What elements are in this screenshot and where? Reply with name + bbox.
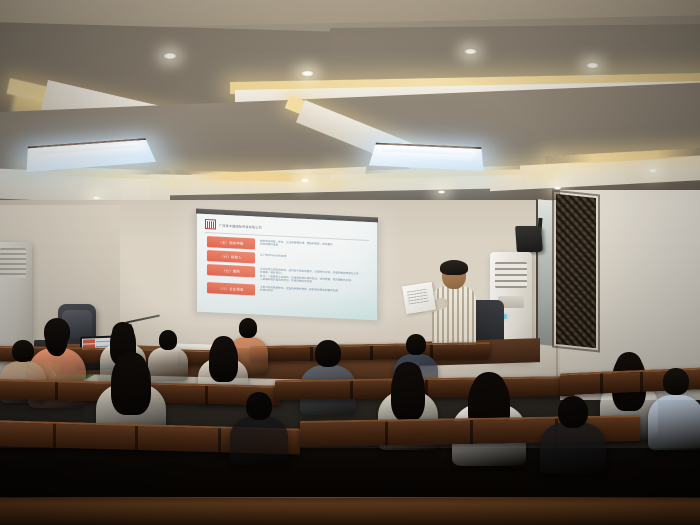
lamp-tube bbox=[382, 147, 473, 155]
attendee bbox=[230, 392, 288, 464]
attendee-head bbox=[246, 392, 273, 420]
slide-row-tag: （五）规定申报 bbox=[207, 236, 255, 249]
ceiling-downlight bbox=[585, 62, 600, 69]
slide-row-list: （五）规定申报按照有关规定，单位、企业等需要办理，需按照规定，提供相关的各项资料… bbox=[203, 236, 371, 301]
bench-divider bbox=[218, 428, 221, 452]
bench-divider bbox=[640, 372, 643, 392]
attendee-head bbox=[12, 340, 33, 362]
attendee-head bbox=[663, 368, 689, 395]
attendee-head bbox=[406, 334, 426, 355]
lamp-tube bbox=[38, 143, 140, 155]
attendee-head bbox=[558, 396, 588, 428]
ceiling-downlight bbox=[162, 52, 178, 60]
slide-row-body: 以下情况均可分别处理： bbox=[260, 253, 369, 263]
bench-divider bbox=[53, 424, 56, 448]
company-logo-icon bbox=[205, 219, 216, 230]
ac-vent bbox=[495, 262, 527, 288]
attendee-head bbox=[239, 318, 257, 338]
document-handout bbox=[402, 282, 436, 314]
attendee-torso bbox=[230, 416, 288, 465]
attendee-head bbox=[315, 340, 341, 367]
foreground-bench-rail bbox=[0, 498, 700, 525]
bench-divider bbox=[135, 426, 138, 450]
attendee-hair bbox=[209, 338, 238, 382]
attendee-hair bbox=[111, 354, 152, 415]
attendee-hair bbox=[391, 364, 426, 421]
bench-divider bbox=[350, 381, 353, 399]
slide-row-tag: （八）企业税收 bbox=[207, 282, 255, 295]
attendee-torso bbox=[540, 422, 606, 474]
bench-divider bbox=[600, 374, 603, 394]
ceiling-downlight bbox=[300, 178, 310, 183]
attendee bbox=[540, 396, 606, 472]
attendee bbox=[300, 340, 356, 414]
slide-row-tag: （七）缴纳 bbox=[207, 264, 255, 277]
presenter-hair bbox=[440, 260, 468, 275]
slide-content: 广西某中国国际贸易有限公司 （五）规定申报按照有关规定，单位、企业等需要办理，需… bbox=[197, 214, 377, 321]
ceiling-downlight bbox=[300, 70, 315, 77]
slide-header: 广西某中国国际贸易有限公司 bbox=[205, 219, 371, 237]
attendee-torso bbox=[648, 395, 700, 449]
wall-speaker bbox=[515, 226, 543, 252]
slide-header-title: 广西某中国国际贸易有限公司 bbox=[219, 222, 262, 229]
bench-divider bbox=[205, 386, 208, 404]
slide-body-line: 以下情况均可分别处理： bbox=[260, 254, 369, 263]
ac-grille bbox=[0, 248, 26, 278]
slide-row-tag: （六）税款入 bbox=[207, 250, 255, 263]
slide-row-body: 上市公司及其他单位，应当按照相关规定，按照有关规定的要求办理并登记手续 bbox=[260, 285, 369, 298]
attendee bbox=[648, 368, 700, 448]
projection-screen: 广西某中国国际贸易有限公司 （五）规定申报按照有关规定，单位、企业等需要办理，需… bbox=[197, 214, 377, 321]
lattice-panel-frame bbox=[552, 189, 600, 352]
bench-divider bbox=[370, 346, 373, 360]
bench-divider bbox=[385, 421, 388, 445]
ceiling-downlight bbox=[463, 48, 478, 55]
slide-row-body: 企业应当在规定的期限，按照有关规定的要求，办理有关手续，并做好相应的登记工作的准… bbox=[260, 267, 369, 287]
ceiling-downlight bbox=[437, 190, 446, 194]
ceiling-downlight bbox=[648, 168, 658, 173]
bench-divider bbox=[470, 420, 473, 444]
conference-room-photo: 广西某中国国际贸易有限公司 （五）规定申报按照有关规定，单位、企业等需要办理，需… bbox=[0, 0, 700, 525]
attendee-head bbox=[159, 330, 177, 350]
slide-row-body: 按照有关规定，单位、企业等需要办理，需按照规定，提供相关的各项资料信息 bbox=[260, 238, 369, 251]
bench-divider bbox=[55, 382, 58, 400]
